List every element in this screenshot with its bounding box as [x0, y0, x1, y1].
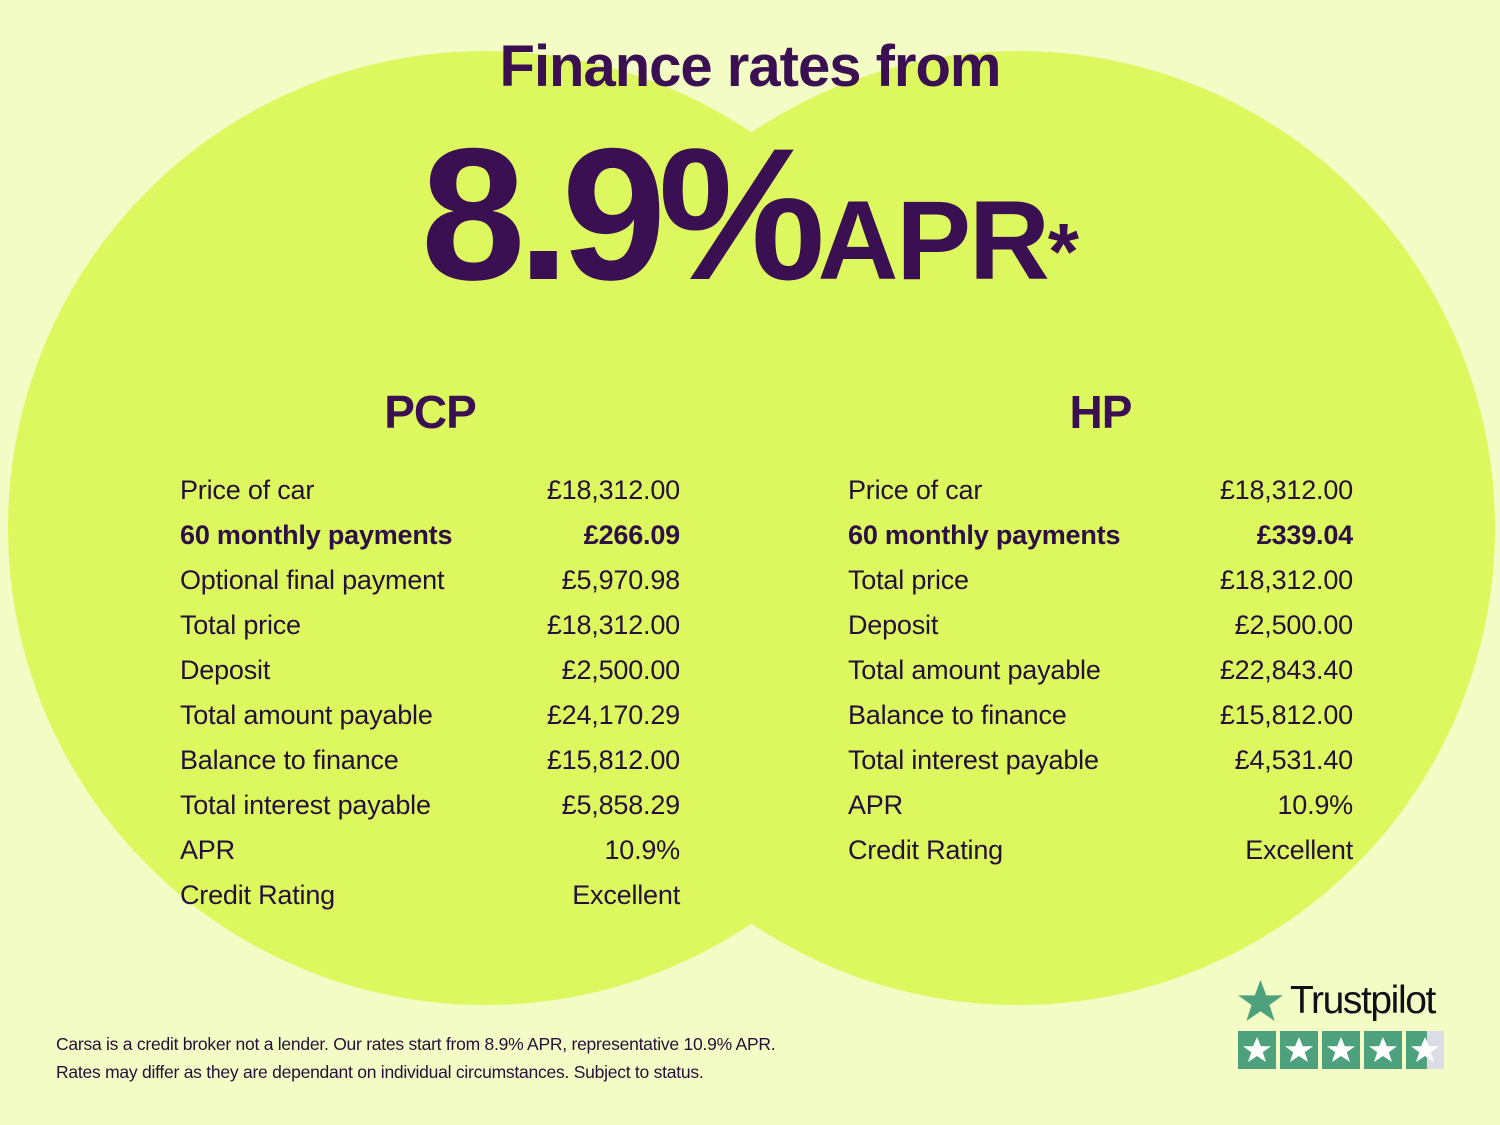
finance-row-value: £2,500.00 [562, 655, 680, 686]
finance-row-value: £266.09 [584, 520, 680, 551]
trustpilot-star-icon [1238, 979, 1283, 1022]
finance-row: APR10.9% [848, 790, 1353, 835]
finance-row: Optional final payment£5,970.98 [180, 565, 680, 610]
finance-row: Price of car£18,312.00 [848, 475, 1353, 520]
finance-row-label: APR [180, 835, 235, 866]
finance-table-hp: HP Price of car£18,312.0060 monthly paym… [848, 385, 1353, 880]
trustpilot-star-box [1322, 1031, 1360, 1069]
apr-unit-label: APR [817, 178, 1047, 303]
finance-row-label: Deposit [848, 610, 938, 641]
finance-row-value: £18,312.00 [1220, 475, 1353, 506]
finance-row-label: Deposit [180, 655, 270, 686]
trustpilot-logo: Trustpilot [1238, 975, 1453, 1025]
finance-row-value: £18,312.00 [547, 610, 680, 641]
finance-row: Deposit£2,500.00 [848, 610, 1353, 655]
finance-row-value: £5,858.29 [562, 790, 680, 821]
finance-row-value: Excellent [1245, 835, 1353, 866]
finance-row-value: £15,812.00 [547, 745, 680, 776]
finance-row-label: 60 monthly payments [848, 520, 1120, 551]
disclaimer-text: Carsa is a credit broker not a lender. O… [56, 1030, 856, 1086]
finance-row-label: Total price [180, 610, 301, 641]
finance-row: Credit RatingExcellent [848, 835, 1353, 880]
page-title: 8.9%APR* [0, 120, 1500, 308]
finance-table-pcp: PCP Price of car£18,312.0060 monthly pay… [180, 385, 680, 925]
finance-row-label: Balance to finance [180, 745, 399, 776]
finance-row-label: Credit Rating [180, 880, 335, 911]
apr-rate-value: 8.9% [421, 109, 818, 319]
finance-row-value: £24,170.29 [547, 700, 680, 731]
finance-row-label: Price of car [848, 475, 982, 506]
disclaimer-line-1: Carsa is a credit broker not a lender. O… [56, 1030, 856, 1058]
finance-row-label: Total amount payable [180, 700, 433, 731]
trustpilot-star-box [1280, 1031, 1318, 1069]
finance-row-label: Total interest payable [848, 745, 1099, 776]
finance-row-value: £4,531.40 [1235, 745, 1353, 776]
finance-row-label: Balance to finance [848, 700, 1067, 731]
disclaimer-line-2: Rates may differ as they are dependant o… [56, 1058, 856, 1086]
finance-row: 60 monthly payments£339.04 [848, 520, 1353, 565]
finance-row-value: £18,312.00 [1220, 565, 1353, 596]
finance-row: Balance to finance£15,812.00 [180, 745, 680, 790]
trustpilot-star-box [1406, 1031, 1444, 1069]
finance-row: Balance to finance£15,812.00 [848, 700, 1353, 745]
finance-row-value: £2,500.00 [1235, 610, 1353, 641]
finance-row-value: £22,843.40 [1220, 655, 1353, 686]
finance-row: Deposit£2,500.00 [180, 655, 680, 700]
finance-row-value: 10.9% [604, 835, 680, 866]
finance-row: Total price£18,312.00 [180, 610, 680, 655]
finance-row-label: Total interest payable [180, 790, 431, 821]
finance-row-value: Excellent [572, 880, 680, 911]
finance-row-label: Total amount payable [848, 655, 1101, 686]
finance-table-pcp-title: PCP [180, 385, 680, 439]
finance-row-label: Optional final payment [180, 565, 444, 596]
finance-row-value: £18,312.00 [547, 475, 680, 506]
finance-table-pcp-rows: Price of car£18,312.0060 monthly payment… [180, 475, 680, 925]
finance-row-label: 60 monthly payments [180, 520, 452, 551]
finance-row: Total interest payable£5,858.29 [180, 790, 680, 835]
trustpilot-star-box [1364, 1031, 1402, 1069]
finance-row: Price of car£18,312.00 [180, 475, 680, 520]
finance-row-label: Total price [848, 565, 969, 596]
finance-row: Total amount payable£22,843.40 [848, 655, 1353, 700]
finance-row-label: APR [848, 790, 903, 821]
finance-row-value: £15,812.00 [1220, 700, 1353, 731]
trustpilot-widget[interactable]: Trustpilot [1238, 975, 1453, 1069]
finance-row-value: 10.9% [1277, 790, 1353, 821]
finance-row: Total interest payable£4,531.40 [848, 745, 1353, 790]
trustpilot-rating-stars [1238, 1031, 1453, 1069]
finance-row: Credit RatingExcellent [180, 880, 680, 925]
page-subtitle: Finance rates from [0, 38, 1500, 96]
trustpilot-wordmark: Trustpilot [1290, 981, 1435, 1020]
footnote-asterisk: * [1048, 207, 1079, 296]
finance-row-label: Credit Rating [848, 835, 1003, 866]
trustpilot-star-box [1238, 1031, 1276, 1069]
finance-row: Total amount payable£24,170.29 [180, 700, 680, 745]
finance-row-label: Price of car [180, 475, 314, 506]
finance-row: APR10.9% [180, 835, 680, 880]
finance-row-value: £339.04 [1257, 520, 1353, 551]
finance-row: Total price£18,312.00 [848, 565, 1353, 610]
finance-row-value: £5,970.98 [562, 565, 680, 596]
finance-row: 60 monthly payments£266.09 [180, 520, 680, 565]
finance-table-hp-title: HP [848, 385, 1353, 439]
finance-table-hp-rows: Price of car£18,312.0060 monthly payment… [848, 475, 1353, 880]
